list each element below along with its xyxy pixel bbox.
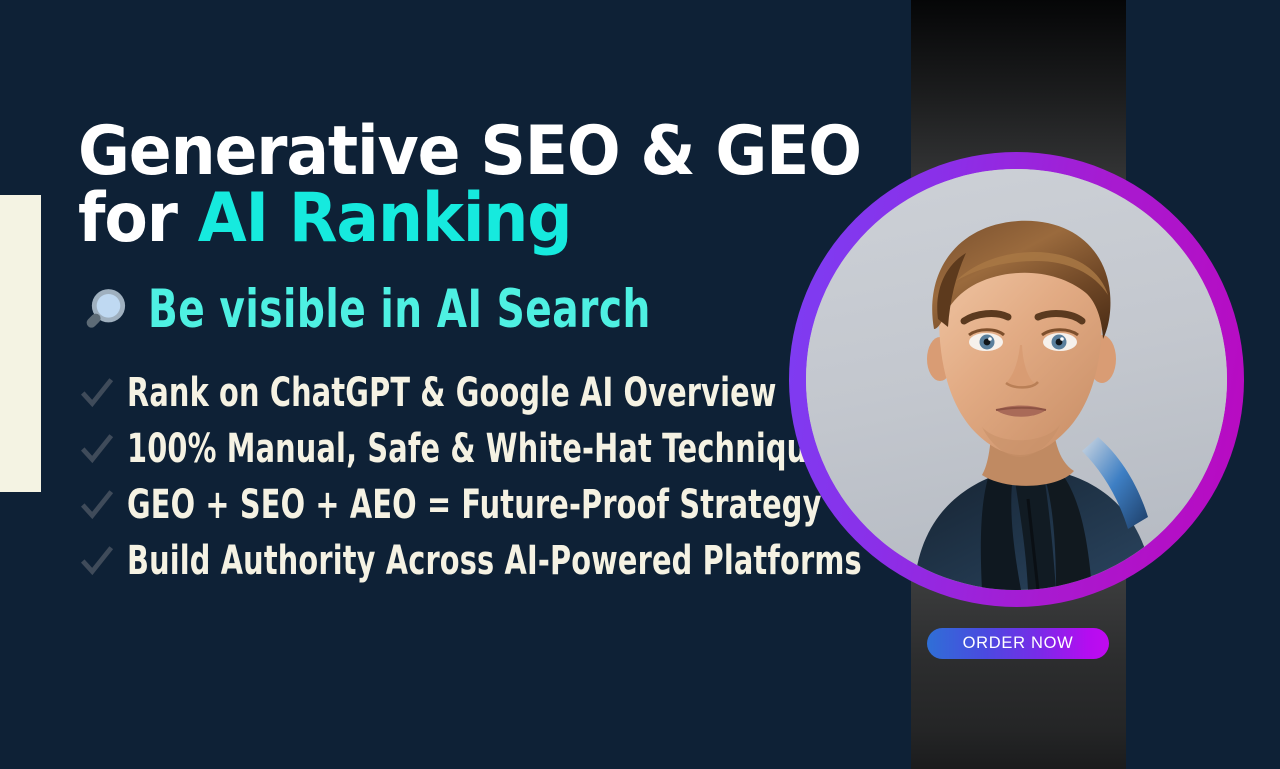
check-icon (78, 374, 116, 412)
list-item: GEO + SEO + AEO = Future-Proof Strategy (78, 477, 868, 533)
cream-accent-stripe (0, 195, 41, 492)
list-item: Rank on ChatGPT & Google AI Overview (78, 365, 868, 421)
list-item-label: GEO + SEO + AEO = Future-Proof Strategy (127, 485, 822, 525)
list-item-label: Rank on ChatGPT & Google AI Overview (127, 373, 777, 413)
portrait-ring (789, 152, 1244, 607)
subheading-text: Be visible in AI Search (148, 283, 651, 336)
check-icon (78, 430, 116, 468)
left-content-column: Generative SEO & GEO for AI Ranking Be v… (78, 118, 868, 589)
order-now-button[interactable]: ORDER NOW (927, 628, 1109, 659)
avatar (806, 169, 1227, 590)
check-icon (78, 486, 116, 524)
portrait-photo (806, 169, 1227, 590)
list-item-label: Build Authority Across AI-Powered Platfo… (127, 541, 862, 581)
list-item: 100% Manual, Safe & White-Hat Techniques (78, 421, 868, 477)
feature-list: Rank on ChatGPT & Google AI Overview 100… (78, 365, 868, 589)
check-icon (78, 542, 116, 580)
promo-banner: Generative SEO & GEO for AI Ranking Be v… (0, 0, 1280, 769)
magnifying-glass-icon (78, 282, 134, 338)
headline-accent: AI Ranking (198, 179, 572, 258)
headline-line-2-prefix: for (78, 179, 198, 258)
subheading: Be visible in AI Search (78, 277, 868, 343)
list-item: Build Authority Across AI-Powered Platfo… (78, 533, 868, 589)
headline-line-2: for AI Ranking (78, 185, 813, 252)
page-title: Generative SEO & GEO for AI Ranking (78, 118, 813, 253)
list-item-label: 100% Manual, Safe & White-Hat Techniques (127, 429, 844, 469)
